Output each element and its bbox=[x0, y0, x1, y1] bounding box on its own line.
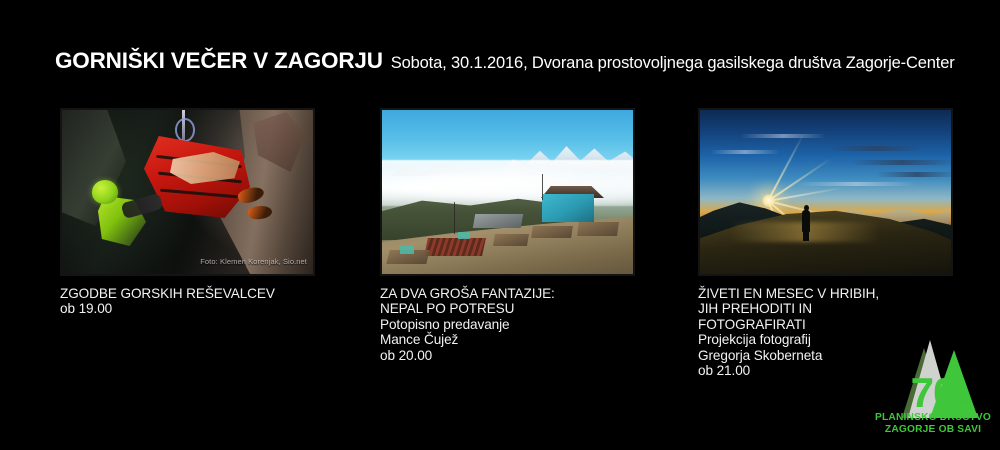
mountain-rescue-photo: Foto: Klemen Korenjak, Sio.net bbox=[60, 108, 315, 276]
logo-organisation-name: PLANINSKO DRUŠTVO ZAGORJE OB SAVI bbox=[872, 412, 994, 437]
event-column-2: ZA DVA GROŠA FANTAZIJE: NEPAL PO POTRESU… bbox=[380, 108, 635, 276]
event-column-1: Foto: Klemen Korenjak, Sio.net ZGODBE GO… bbox=[60, 108, 315, 276]
logo-name-line2: ZAGORJE OB SAVI bbox=[872, 424, 994, 436]
carabiner-icon bbox=[175, 118, 195, 142]
event-column-3: ŽIVETI EN MESEC V HRIBIH, JIH PREHODITI … bbox=[698, 108, 953, 276]
rubble-shape bbox=[531, 226, 573, 238]
event-title-line: ŽIVETI EN MESEC V HRIBIH, bbox=[698, 286, 960, 301]
sunset-ridge-photo bbox=[698, 108, 953, 276]
event-columns: Foto: Klemen Korenjak, Sio.net ZGODBE GO… bbox=[0, 108, 1000, 408]
photo-credit: Foto: Klemen Korenjak, Sio.net bbox=[200, 257, 307, 266]
rubble-shape bbox=[493, 234, 529, 246]
cloud-streak-shape bbox=[710, 150, 780, 154]
photo-artwork-nepal bbox=[382, 110, 633, 274]
page-header: GORNIŠKI VEČER V ZAGORJU Sobota, 30.1.20… bbox=[55, 48, 995, 78]
photo-artwork-rescue: Foto: Klemen Korenjak, Sio.net bbox=[62, 110, 313, 274]
page-title: GORNIŠKI VEČER V ZAGORJU bbox=[55, 48, 383, 74]
event-time: ob 19.00 bbox=[60, 301, 322, 316]
event-title-line: ZGODBE GORSKIH REŠEVALCEV bbox=[60, 286, 322, 301]
event-presenter: Mance Čujež bbox=[380, 332, 642, 347]
blue-house-shape bbox=[542, 194, 594, 222]
organisation-logo: 70 let PLANINSKO DRUŠTVO ZAGORJE OB SAVI bbox=[872, 334, 994, 442]
sun-disc-shape bbox=[762, 194, 775, 207]
pole-shape bbox=[542, 174, 543, 200]
event-title-line: FOTOGRAFIRATI bbox=[698, 317, 960, 332]
event-time: ob 20.00 bbox=[380, 348, 642, 363]
logo-anniversary-unit: let bbox=[960, 396, 971, 406]
tarp-shape bbox=[400, 246, 414, 254]
cloud-band-shape bbox=[382, 160, 633, 206]
dark-cloud-shape bbox=[876, 172, 951, 177]
rubble-shape bbox=[577, 222, 619, 236]
rescuer-helmet-shape bbox=[92, 180, 118, 204]
event-caption-1: ZGODBE GORSKIH REŠEVALCEV ob 19.00 bbox=[60, 286, 322, 317]
red-roof-shape bbox=[424, 238, 486, 256]
page-subtitle: Sobota, 30.1.2016, Dvorana prostovoljneg… bbox=[391, 54, 955, 73]
event-subtitle-line: Potopisno predavanje bbox=[380, 317, 642, 332]
cloud-streak-shape bbox=[740, 134, 826, 138]
hiker-body-shape bbox=[802, 210, 810, 232]
pole-shape bbox=[454, 202, 455, 234]
nepal-earthquake-photo bbox=[380, 108, 635, 276]
hiker-head-shape bbox=[804, 205, 809, 211]
event-title-line: ZA DVA GROŠA FANTAZIJE: bbox=[380, 286, 642, 301]
dark-cloud-shape bbox=[850, 160, 951, 165]
event-title-line: JIH PREHODITI IN bbox=[698, 301, 960, 316]
dark-cloud-shape bbox=[828, 146, 924, 151]
tarp-shape bbox=[458, 232, 470, 239]
logo-anniversary-number: 70 bbox=[880, 372, 986, 414]
photo-artwork-sunset bbox=[700, 110, 951, 274]
event-caption-2: ZA DVA GROŠA FANTAZIJE: NEPAL PO POTRESU… bbox=[380, 286, 642, 363]
event-title-line: NEPAL PO POTRESU bbox=[380, 301, 642, 316]
grey-roof-shape bbox=[473, 214, 523, 228]
logo-name-line1: PLANINSKO DRUŠTVO bbox=[872, 412, 994, 424]
